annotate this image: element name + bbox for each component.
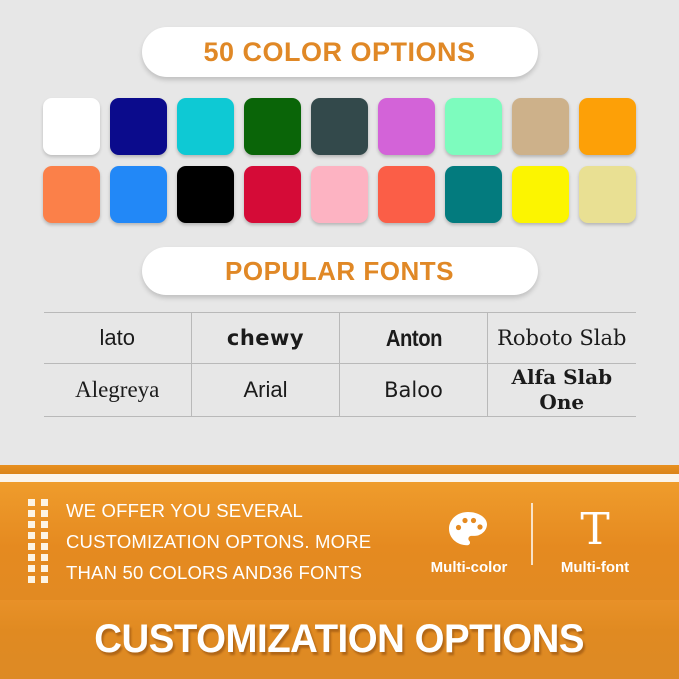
dot (41, 510, 48, 517)
color-swatch-turquoise[interactable] (177, 98, 234, 155)
color-swatch-dark-slate[interactable] (311, 98, 368, 155)
font-name-label: Alegreya (75, 377, 159, 402)
letter-t-icon: T (537, 507, 653, 553)
dot (41, 565, 48, 572)
dot (41, 499, 48, 506)
color-swatch-tan[interactable] (512, 98, 569, 155)
font-cell[interactable]: Alfa Slab One (488, 364, 636, 417)
dot (41, 543, 48, 550)
font-name-label: lato (100, 325, 135, 350)
font-name-label: chewy (227, 326, 304, 350)
font-cell[interactable]: Anton (340, 313, 488, 364)
feature-badges: Multi-color T Multi-font (411, 503, 653, 579)
font-name-label: Roboto Slab (497, 326, 626, 350)
color-swatch-amber[interactable] (579, 98, 636, 155)
color-swatch-dark-green[interactable] (244, 98, 301, 155)
color-swatch-teal[interactable] (445, 166, 502, 223)
color-options-heading: 50 COLOR OPTIONS (142, 27, 538, 77)
color-swatch-navy[interactable] (110, 98, 167, 155)
feature-caption: Multi-font (537, 559, 653, 576)
section-divider (0, 465, 679, 482)
popular-fonts-section: POPULAR FONTS latochewyAntonRoboto SlabA… (0, 223, 679, 417)
fonts-table-wrap: latochewyAntonRoboto SlabAlegreyaArialBa… (44, 312, 636, 417)
fonts-table-row: AlegreyaArialBalooAlfa Slab One (44, 364, 636, 417)
fonts-table-row: latochewyAntonRoboto Slab (44, 313, 636, 364)
dot (28, 499, 35, 506)
font-cell[interactable]: Roboto Slab (488, 313, 636, 364)
color-swatch-grid (0, 98, 679, 223)
color-swatch-crimson[interactable] (244, 166, 301, 223)
info-line: WE OFFER YOU SEVERAL (66, 495, 371, 526)
color-swatch-dodger-blue[interactable] (110, 166, 167, 223)
color-swatch-black[interactable] (177, 166, 234, 223)
feature-divider (531, 503, 533, 565)
dot (41, 554, 48, 561)
color-swatch-tomato[interactable] (378, 166, 435, 223)
color-swatch-white[interactable] (43, 98, 100, 155)
dot (28, 543, 35, 550)
popular-fonts-heading: POPULAR FONTS (142, 247, 538, 295)
font-cell[interactable]: Alegreya (44, 364, 192, 417)
divider-stripe-gap (0, 474, 679, 482)
popular-fonts-heading-wrap: POPULAR FONTS (0, 247, 679, 295)
color-swatch-orchid[interactable] (378, 98, 435, 155)
color-options-heading-wrap: 50 COLOR OPTIONS (0, 27, 679, 77)
feature-caption: Multi-color (411, 559, 527, 576)
bottom-banner: CUSTOMIZATION OPTIONS (0, 600, 679, 679)
fonts-table: latochewyAntonRoboto SlabAlegreyaArialBa… (44, 312, 636, 417)
dot (28, 554, 35, 561)
color-swatch-aquamarine[interactable] (445, 98, 502, 155)
feature-multi-font: T Multi-font (537, 507, 653, 576)
font-name-label: Arial (243, 377, 287, 402)
info-line: CUSTOMIZATION OPTONS. MORE (66, 526, 371, 557)
font-name-label: Anton (385, 325, 441, 352)
dot (28, 521, 35, 528)
dot (28, 532, 35, 539)
font-cell[interactable]: lato (44, 313, 192, 364)
dot (41, 532, 48, 539)
font-name-label: Alfa Slab One (511, 365, 612, 414)
feature-multi-color: Multi-color (411, 507, 527, 576)
font-cell[interactable]: chewy (192, 313, 340, 364)
font-cell[interactable]: Arial (192, 364, 340, 417)
color-swatch-khaki[interactable] (579, 166, 636, 223)
customization-info-panel: WE OFFER YOU SEVERAL CUSTOMIZATION OPTON… (0, 482, 679, 600)
color-swatch-yellow[interactable] (512, 166, 569, 223)
dot (28, 565, 35, 572)
dot (41, 521, 48, 528)
dot-matrix-decoration (28, 499, 48, 583)
dot (28, 510, 35, 517)
palette-icon (411, 507, 527, 553)
font-cell[interactable]: Baloo (340, 364, 488, 417)
color-swatch-coral-orange[interactable] (43, 166, 100, 223)
font-name-label: Baloo (384, 378, 443, 402)
dot (41, 576, 48, 583)
bottom-banner-title: CUSTOMIZATION OPTIONS (95, 617, 585, 662)
info-line: THAN 50 COLORS AND36 FONTS (66, 557, 371, 588)
color-options-section: 50 COLOR OPTIONS (0, 0, 679, 223)
info-text-block: WE OFFER YOU SEVERAL CUSTOMIZATION OPTON… (66, 495, 371, 588)
divider-stripe-top (0, 465, 679, 474)
dot (28, 576, 35, 583)
color-swatch-pink[interactable] (311, 166, 368, 223)
